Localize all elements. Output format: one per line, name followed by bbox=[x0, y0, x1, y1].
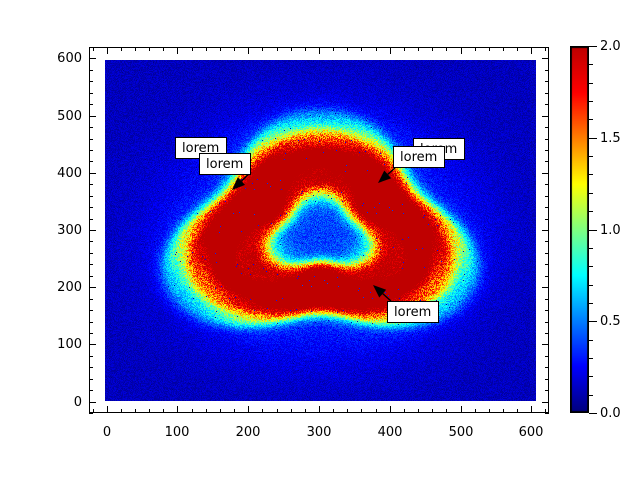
y-minor-tick bbox=[89, 184, 93, 185]
y-major-tick bbox=[89, 402, 96, 403]
y-minor-tick bbox=[89, 47, 93, 48]
colorbar bbox=[570, 46, 589, 413]
y-minor-tick-right bbox=[545, 93, 549, 94]
x-minor-tick-top bbox=[121, 47, 122, 51]
x-minor-tick bbox=[404, 409, 405, 413]
y-minor-tick bbox=[89, 276, 93, 277]
x-major-tick-top bbox=[390, 47, 391, 54]
y-tick-label: 400 bbox=[39, 167, 82, 180]
y-major-tick bbox=[89, 173, 96, 174]
y-minor-tick bbox=[89, 367, 93, 368]
annotation-bottom[interactable]: lorem bbox=[387, 301, 439, 323]
y-minor-tick-right bbox=[545, 139, 549, 140]
y-major-tick bbox=[89, 116, 96, 117]
x-minor-tick bbox=[503, 409, 504, 413]
y-tick-label: 0 bbox=[39, 396, 82, 409]
x-major-tick bbox=[390, 406, 391, 413]
x-major-tick-top bbox=[177, 47, 178, 54]
y-minor-tick bbox=[89, 299, 93, 300]
x-major-tick bbox=[319, 406, 320, 413]
y-minor-tick-right bbox=[545, 299, 549, 300]
x-major-tick-top bbox=[248, 47, 249, 54]
y-minor-tick-right bbox=[545, 322, 549, 323]
y-minor-tick-right bbox=[545, 356, 549, 357]
x-minor-tick-top bbox=[149, 47, 150, 51]
x-minor-tick bbox=[234, 409, 235, 413]
x-minor-tick bbox=[121, 409, 122, 413]
colorbar-tick-label: 2.0 bbox=[600, 40, 621, 53]
y-minor-tick-right bbox=[545, 333, 549, 334]
colorbar-minor-tick bbox=[589, 119, 593, 120]
y-minor-tick bbox=[89, 322, 93, 323]
y-tick-label: 100 bbox=[39, 338, 82, 351]
y-tick-label: 600 bbox=[39, 52, 82, 65]
colorbar-minor-tick bbox=[589, 376, 593, 377]
y-minor-tick-right bbox=[545, 70, 549, 71]
x-minor-tick-top bbox=[234, 47, 235, 51]
x-tick-label: 400 bbox=[370, 426, 410, 439]
y-minor-tick-right bbox=[545, 150, 549, 151]
x-minor-tick-top bbox=[404, 47, 405, 51]
colorbar-minor-tick bbox=[589, 340, 593, 341]
y-minor-tick bbox=[89, 127, 93, 128]
colorbar-major-tick bbox=[589, 46, 597, 47]
x-minor-tick bbox=[475, 409, 476, 413]
x-minor-tick bbox=[206, 409, 207, 413]
colorbar-major-tick bbox=[589, 413, 597, 414]
x-minor-tick bbox=[277, 409, 278, 413]
y-tick-label: 500 bbox=[39, 110, 82, 123]
x-major-tick bbox=[177, 406, 178, 413]
colorbar-major-tick bbox=[589, 321, 597, 322]
x-minor-tick bbox=[192, 409, 193, 413]
x-minor-tick-top bbox=[376, 47, 377, 51]
x-tick-label: 100 bbox=[157, 426, 197, 439]
colorbar-tick-label: 1.5 bbox=[600, 132, 621, 145]
colorbar-minor-tick bbox=[589, 174, 593, 175]
y-minor-tick bbox=[89, 413, 93, 414]
x-major-tick bbox=[461, 406, 462, 413]
x-major-tick bbox=[107, 406, 108, 413]
x-minor-tick-top bbox=[347, 47, 348, 51]
y-minor-tick-right bbox=[545, 253, 549, 254]
x-tick-label: 200 bbox=[228, 426, 268, 439]
x-minor-tick-top bbox=[432, 47, 433, 51]
y-minor-tick bbox=[89, 150, 93, 151]
x-minor-tick bbox=[149, 409, 150, 413]
x-minor-tick-top bbox=[135, 47, 136, 51]
x-minor-tick-top bbox=[489, 47, 490, 51]
x-minor-tick bbox=[361, 409, 362, 413]
y-minor-tick bbox=[89, 207, 93, 208]
x-minor-tick-top bbox=[475, 47, 476, 51]
x-minor-tick bbox=[262, 409, 263, 413]
y-minor-tick bbox=[89, 379, 93, 380]
x-minor-tick bbox=[432, 409, 433, 413]
y-minor-tick bbox=[89, 390, 93, 391]
colorbar-tick-label: 0.5 bbox=[600, 315, 621, 328]
colorbar-major-tick bbox=[589, 138, 597, 139]
x-minor-tick-top bbox=[503, 47, 504, 51]
colorbar-minor-tick bbox=[589, 83, 593, 84]
x-minor-tick bbox=[333, 409, 334, 413]
x-minor-tick-top bbox=[291, 47, 292, 51]
colorbar-minor-tick bbox=[589, 395, 593, 396]
y-minor-tick bbox=[89, 356, 93, 357]
y-tick-label: 200 bbox=[39, 281, 82, 294]
y-minor-tick bbox=[89, 161, 93, 162]
x-major-tick-top bbox=[319, 47, 320, 54]
y-major-tick-right bbox=[542, 116, 549, 117]
y-major-tick bbox=[89, 287, 96, 288]
y-minor-tick bbox=[89, 81, 93, 82]
colorbar-tick-label: 0.0 bbox=[600, 407, 621, 420]
y-minor-tick-right bbox=[545, 184, 549, 185]
y-minor-tick bbox=[89, 139, 93, 140]
y-minor-tick bbox=[89, 310, 93, 311]
y-minor-tick bbox=[89, 333, 93, 334]
x-minor-tick-top bbox=[361, 47, 362, 51]
y-minor-tick bbox=[89, 241, 93, 242]
annotation-top-left-front[interactable]: lorem bbox=[199, 153, 251, 175]
y-minor-tick bbox=[89, 93, 93, 94]
y-major-tick-right bbox=[542, 173, 549, 174]
y-minor-tick-right bbox=[545, 47, 549, 48]
y-minor-tick-right bbox=[545, 219, 549, 220]
colorbar-minor-tick bbox=[589, 101, 593, 102]
x-minor-tick-top bbox=[446, 47, 447, 51]
x-major-tick-top bbox=[461, 47, 462, 54]
x-minor-tick-top bbox=[517, 47, 518, 51]
y-minor-tick-right bbox=[545, 127, 549, 128]
y-major-tick-right bbox=[542, 344, 549, 345]
x-tick-label: 600 bbox=[511, 426, 551, 439]
y-major-tick bbox=[89, 344, 96, 345]
colorbar-minor-tick bbox=[589, 248, 593, 249]
y-minor-tick-right bbox=[545, 196, 549, 197]
x-minor-tick-top bbox=[305, 47, 306, 51]
x-minor-tick bbox=[220, 409, 221, 413]
y-minor-tick-right bbox=[545, 264, 549, 265]
y-minor-tick bbox=[89, 196, 93, 197]
y-minor-tick-right bbox=[545, 241, 549, 242]
colorbar-minor-tick bbox=[589, 193, 593, 194]
x-tick-label: 300 bbox=[299, 426, 339, 439]
y-minor-tick-right bbox=[545, 81, 549, 82]
colorbar-tick-label: 1.0 bbox=[600, 224, 621, 237]
x-minor-tick bbox=[489, 409, 490, 413]
y-minor-tick bbox=[89, 70, 93, 71]
y-minor-tick-right bbox=[545, 104, 549, 105]
x-minor-tick-top bbox=[93, 47, 94, 51]
y-major-tick bbox=[89, 230, 96, 231]
y-minor-tick-right bbox=[545, 413, 549, 414]
y-minor-tick bbox=[89, 264, 93, 265]
x-major-tick-top bbox=[107, 47, 108, 54]
y-minor-tick-right bbox=[545, 379, 549, 380]
colorbar-minor-tick bbox=[589, 358, 593, 359]
y-minor-tick-right bbox=[545, 310, 549, 311]
y-major-tick-right bbox=[542, 230, 549, 231]
y-major-tick-right bbox=[542, 402, 549, 403]
annotation-top-right-front[interactable]: lorem bbox=[393, 146, 445, 168]
x-minor-tick bbox=[446, 409, 447, 413]
colorbar-minor-tick bbox=[589, 211, 593, 212]
x-minor-tick bbox=[135, 409, 136, 413]
y-major-tick bbox=[89, 58, 96, 59]
y-tick-label: 300 bbox=[39, 224, 82, 237]
colorbar-minor-tick bbox=[589, 64, 593, 65]
x-minor-tick-top bbox=[277, 47, 278, 51]
y-minor-tick bbox=[89, 253, 93, 254]
x-tick-label: 0 bbox=[87, 426, 127, 439]
colorbar-minor-tick bbox=[589, 285, 593, 286]
x-minor-tick bbox=[163, 409, 164, 413]
y-major-tick-right bbox=[542, 287, 549, 288]
x-major-tick bbox=[248, 406, 249, 413]
x-minor-tick bbox=[93, 409, 94, 413]
x-minor-tick-top bbox=[206, 47, 207, 51]
x-tick-label: 500 bbox=[441, 426, 481, 439]
y-minor-tick-right bbox=[545, 390, 549, 391]
x-minor-tick bbox=[305, 409, 306, 413]
x-minor-tick-top bbox=[220, 47, 221, 51]
x-minor-tick-top bbox=[333, 47, 334, 51]
x-minor-tick-top bbox=[262, 47, 263, 51]
figure-canvas: 01002003004005006000100200300400500600 0… bbox=[0, 0, 640, 480]
y-minor-tick-right bbox=[545, 276, 549, 277]
y-minor-tick-right bbox=[545, 207, 549, 208]
x-minor-tick bbox=[291, 409, 292, 413]
x-major-tick-top bbox=[531, 47, 532, 54]
x-minor-tick bbox=[347, 409, 348, 413]
x-minor-tick-top bbox=[418, 47, 419, 51]
y-minor-tick-right bbox=[545, 367, 549, 368]
y-minor-tick bbox=[89, 219, 93, 220]
x-minor-tick-top bbox=[192, 47, 193, 51]
y-major-tick-right bbox=[542, 58, 549, 59]
x-major-tick bbox=[531, 406, 532, 413]
x-minor-tick bbox=[517, 409, 518, 413]
x-minor-tick bbox=[376, 409, 377, 413]
colorbar-minor-tick bbox=[589, 303, 593, 304]
colorbar-minor-tick bbox=[589, 266, 593, 267]
colorbar-major-tick bbox=[589, 230, 597, 231]
y-minor-tick bbox=[89, 104, 93, 105]
colorbar-gradient bbox=[570, 46, 589, 413]
x-minor-tick bbox=[418, 409, 419, 413]
x-minor-tick-top bbox=[163, 47, 164, 51]
y-minor-tick-right bbox=[545, 161, 549, 162]
colorbar-minor-tick bbox=[589, 156, 593, 157]
heatmap-image bbox=[105, 60, 536, 401]
